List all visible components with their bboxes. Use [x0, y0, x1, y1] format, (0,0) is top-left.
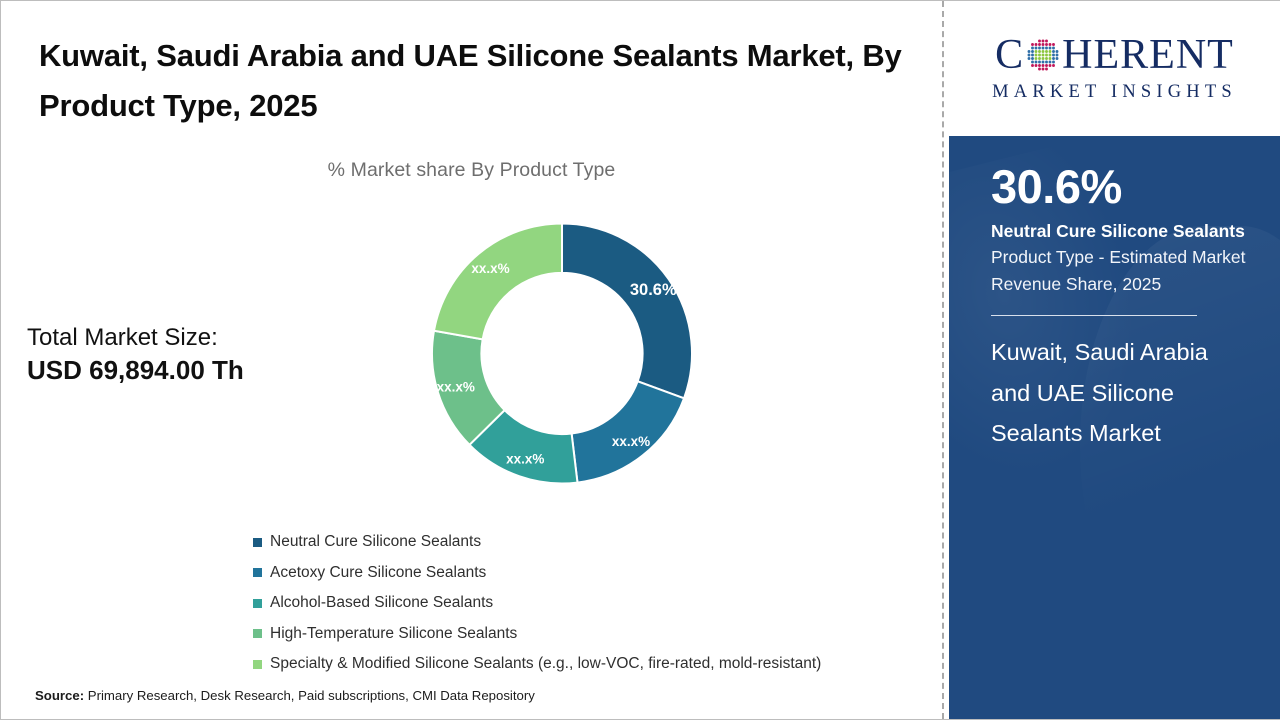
logo: C HERENT MARKET INSIGHTS	[949, 1, 1280, 136]
globe-dot	[1045, 43, 1048, 46]
globe-dot	[1035, 50, 1038, 53]
donut-slice	[562, 224, 692, 399]
source-note: Source: Primary Research, Desk Research,…	[35, 688, 535, 703]
globe-dot	[1049, 47, 1052, 50]
globe-dot	[1038, 43, 1041, 46]
infographic-root: Kuwait, Saudi Arabia and UAE Silicone Se…	[0, 0, 1280, 720]
globe-dot	[1045, 47, 1048, 50]
stat-description: Neutral Cure Silicone Sealants Product T…	[991, 218, 1252, 298]
globe-dot	[1049, 57, 1052, 60]
donut-slice-label: xx.x%	[471, 261, 509, 276]
globe-dot	[1042, 57, 1045, 60]
globe-dot	[1038, 54, 1041, 57]
globe-dot	[1042, 54, 1045, 57]
globe-dot	[1031, 57, 1034, 60]
globe-dot	[1045, 40, 1048, 43]
donut-chart-svg: 30.6%xx.x%xx.x%xx.x%xx.x%	[431, 221, 693, 486]
globe-dot	[1035, 54, 1038, 57]
globe-dot	[1038, 57, 1041, 60]
total-market-size-value: USD 69,894.00 Th	[27, 354, 317, 387]
globe-dot	[1028, 50, 1031, 53]
logo-tagline: MARKET INSIGHTS	[992, 82, 1237, 103]
globe-dot	[1052, 47, 1055, 50]
donut-chart: 30.6%xx.x%xx.x%xx.x%xx.x%	[431, 221, 693, 486]
globe-dot	[1035, 43, 1038, 46]
globe-dot	[1045, 64, 1048, 67]
donut-slice-label: xx.x%	[612, 434, 650, 449]
page-title: Kuwait, Saudi Arabia and UAE Silicone Se…	[39, 31, 909, 131]
source-text: Primary Research, Desk Research, Paid su…	[84, 688, 535, 703]
legend-item: Acetoxy Cure Silicone Sealants	[253, 558, 933, 589]
stat-description-rest: Product Type - Estimated Market Revenue …	[991, 247, 1246, 294]
legend-swatch-icon	[253, 629, 262, 638]
stat-description-highlight: Neutral Cure Silicone Sealants	[991, 221, 1245, 241]
globe-dot	[1035, 47, 1038, 50]
globe-dot	[1049, 54, 1052, 57]
chart-panel: Kuwait, Saudi Arabia and UAE Silicone Se…	[1, 1, 942, 719]
globe-dot	[1035, 57, 1038, 60]
globe-dot	[1052, 54, 1055, 57]
legend-swatch-icon	[253, 660, 262, 669]
chart-subtitle: % Market share By Product Type	[1, 159, 942, 182]
globe-dot	[1056, 57, 1059, 60]
legend-item: Specialty & Modified Silicone Sealants (…	[253, 649, 933, 680]
globe-dot	[1049, 50, 1052, 53]
globe-dot	[1052, 57, 1055, 60]
globe-dots-icon	[1025, 37, 1061, 73]
globe-dot	[1052, 43, 1055, 46]
globe-dot	[1042, 47, 1045, 50]
donut-slice-label: xx.x%	[506, 452, 544, 467]
chart-legend: Neutral Cure Silicone SealantsAcetoxy Cu…	[253, 527, 933, 680]
total-market-size-label: Total Market Size:	[27, 323, 317, 354]
legend-item: Alcohol-Based Silicone Sealants	[253, 588, 933, 619]
stat-content: 30.6% Neutral Cure Silicone Sealants Pro…	[949, 136, 1280, 454]
legend-item-label: Alcohol-Based Silicone Sealants	[270, 594, 493, 612]
logo-letter-c: C	[995, 34, 1024, 76]
donut-slice	[572, 381, 684, 482]
donut-slice	[434, 224, 562, 340]
brand-panel: C HERENT MARKET INSIGHTS 30.6% Neutral C…	[949, 1, 1280, 719]
legend-swatch-icon	[253, 599, 262, 608]
globe-dot	[1042, 50, 1045, 53]
globe-dot	[1031, 61, 1034, 64]
legend-item-label: Specialty & Modified Silicone Sealants (…	[270, 655, 821, 673]
globe-dot	[1045, 54, 1048, 57]
legend-swatch-icon	[253, 568, 262, 577]
globe-dot	[1031, 54, 1034, 57]
globe-dot	[1031, 64, 1034, 67]
logo-wordmark: C HERENT	[995, 34, 1234, 76]
legend-item-label: Acetoxy Cure Silicone Sealants	[270, 564, 486, 582]
legend-swatch-icon	[253, 538, 262, 547]
globe-dot	[1042, 61, 1045, 64]
globe-dot	[1035, 61, 1038, 64]
globe-dot	[1056, 50, 1059, 53]
globe-dot	[1031, 47, 1034, 50]
globe-dot	[1028, 54, 1031, 57]
globe-dot	[1056, 54, 1059, 57]
globe-dot	[1052, 64, 1055, 67]
globe-dot	[1045, 68, 1048, 71]
legend-item: Neutral Cure Silicone Sealants	[253, 527, 933, 558]
globe-dot	[1038, 68, 1041, 71]
donut-slice-label: 30.6%	[630, 281, 677, 299]
globe-dot	[1038, 61, 1041, 64]
source-label: Source:	[35, 688, 84, 703]
stat-divider	[991, 315, 1197, 316]
globe-dot	[1031, 43, 1034, 46]
globe-dot	[1045, 50, 1048, 53]
stat-highlight-panel: 30.6% Neutral Cure Silicone Sealants Pro…	[949, 136, 1280, 719]
globe-dot	[1045, 61, 1048, 64]
panel-divider	[942, 1, 944, 719]
legend-item-label: High-Temperature Silicone Sealants	[270, 625, 517, 643]
globe-dot	[1038, 40, 1041, 43]
globe-dot	[1052, 50, 1055, 53]
globe-dot	[1052, 61, 1055, 64]
stat-market-name: Kuwait, Saudi Arabia and UAE Silicone Se…	[991, 332, 1252, 453]
globe-dot	[1028, 57, 1031, 60]
logo-letters-herent: HERENT	[1062, 34, 1234, 76]
globe-dot	[1042, 64, 1045, 67]
globe-dot	[1049, 64, 1052, 67]
legend-item-label: Neutral Cure Silicone Sealants	[270, 533, 481, 551]
total-market-size: Total Market Size: USD 69,894.00 Th	[27, 323, 317, 387]
globe-dot	[1042, 40, 1045, 43]
globe-dot	[1031, 50, 1034, 53]
globe-dot	[1038, 64, 1041, 67]
globe-dot	[1038, 50, 1041, 53]
legend-item: High-Temperature Silicone Sealants	[253, 619, 933, 650]
globe-dot	[1042, 43, 1045, 46]
donut-slice-label: xx.x%	[437, 380, 475, 395]
globe-dot	[1049, 43, 1052, 46]
stat-percent: 30.6%	[991, 161, 1252, 214]
globe-dot	[1045, 57, 1048, 60]
globe-dot	[1035, 64, 1038, 67]
globe-dot	[1038, 47, 1041, 50]
globe-dot	[1042, 68, 1045, 71]
globe-dot	[1049, 61, 1052, 64]
